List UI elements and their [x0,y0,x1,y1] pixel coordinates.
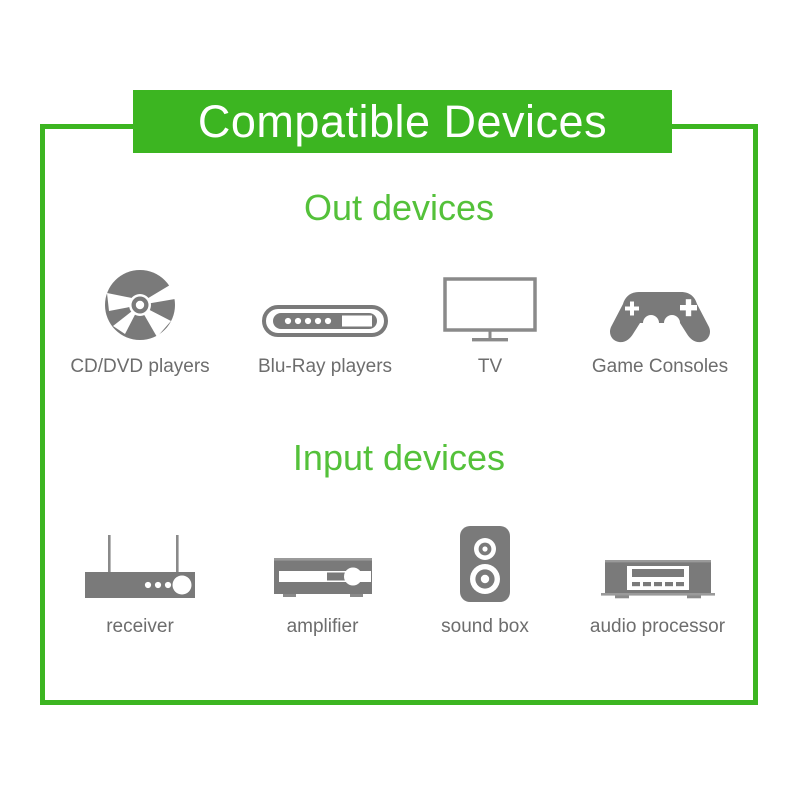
device-icon-wrap [442,252,538,344]
device-cd-dvd-players: CD/DVD players [45,252,235,378]
av-receiver-icon [77,528,203,604]
device-audio-processor: audio processor [560,512,755,638]
device-icon-wrap [270,512,376,604]
device-label: receiver [106,616,174,638]
compact-disc-icon [101,266,179,344]
device-label: sound box [441,616,529,638]
device-receiver: receiver [45,512,235,638]
device-icon-wrap [101,252,179,344]
device-label: Blu-Ray players [258,356,392,378]
device-sound-box: sound box [410,512,560,638]
device-label: CD/DVD players [70,356,209,378]
compatible-devices-poster: Compatible Devices Out devices CD/DVD pl… [0,0,800,800]
device-icon-wrap [606,252,714,344]
section-heading-input-devices: Input devices [40,437,758,479]
device-label: audio processor [590,616,725,638]
device-game-consoles: Game Consoles [565,252,755,378]
blu-ray-player-icon [262,298,388,344]
device-label: amplifier [287,616,359,638]
device-label: Game Consoles [592,356,728,378]
television-icon [442,276,538,344]
device-icon-wrap [458,512,512,604]
amplifier-icon [270,554,376,604]
device-tv: TV [415,252,565,378]
game-controller-icon [606,286,714,344]
page-title: Compatible Devices [198,99,607,144]
device-label: TV [478,356,502,378]
out-devices-row: CD/DVD players Blu-Ray players [45,252,755,378]
title-banner: Compatible Devices [133,90,672,153]
loudspeaker-icon [458,524,512,604]
device-icon-wrap [77,512,203,604]
input-devices-row: receiver amplifier [45,512,755,638]
device-icon-wrap [599,512,717,604]
audio-processor-icon [599,554,717,604]
device-blu-ray-players: Blu-Ray players [235,252,415,378]
device-amplifier: amplifier [235,512,410,638]
device-icon-wrap [262,252,388,344]
section-heading-out-devices: Out devices [40,187,758,229]
